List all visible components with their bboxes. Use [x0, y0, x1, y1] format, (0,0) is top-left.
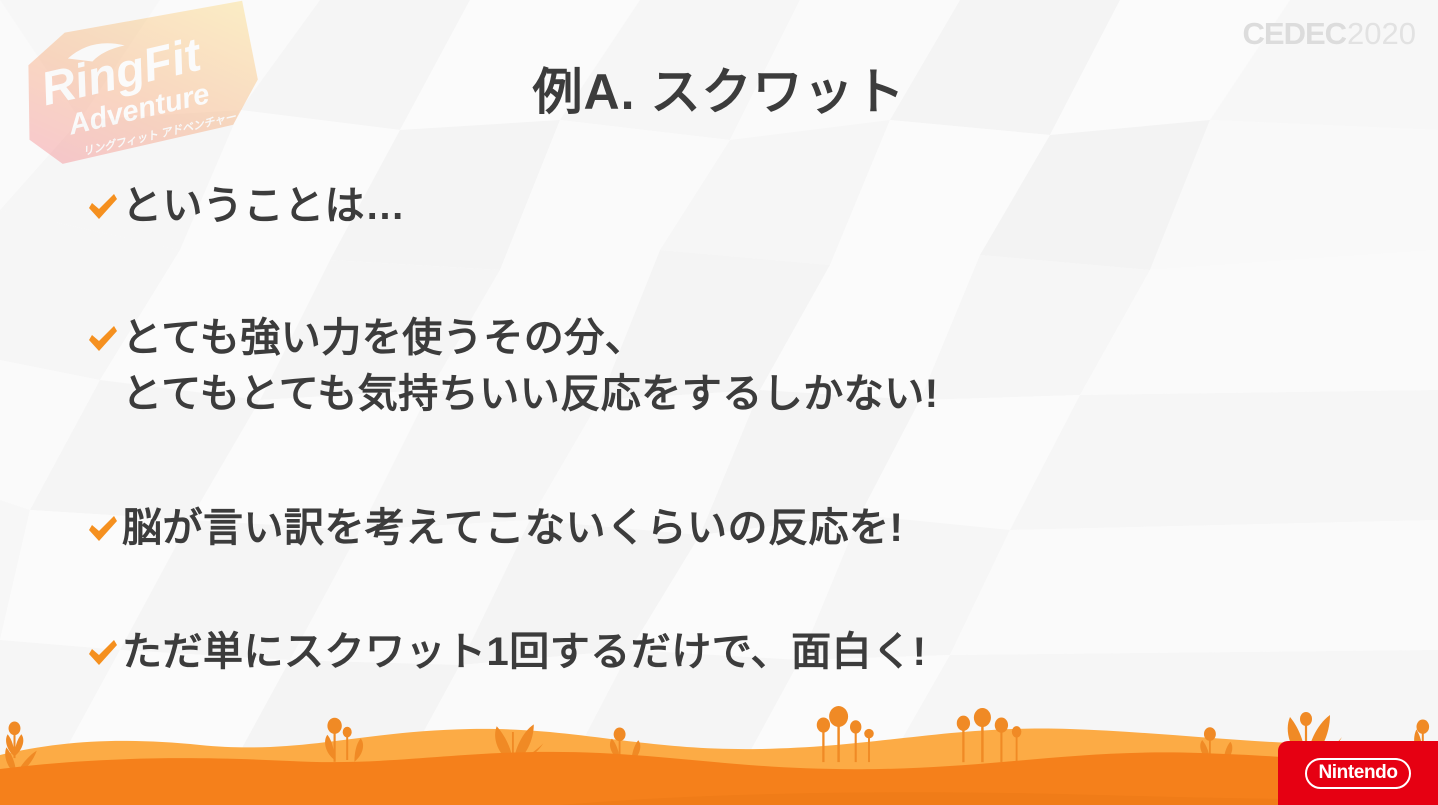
bullet-item: 脳が言い訳を考えてこないくらいの反応を!	[86, 500, 1326, 556]
bullet-line: とてもとても気持ちいい反応をするしかない!	[122, 366, 939, 422]
footer-hill-decoration	[0, 685, 1438, 805]
slide-title: 例A. スクワット	[0, 52, 1438, 124]
nintendo-wordmark: Nintendo	[1318, 762, 1397, 784]
nintendo-pill-outline: Nintendo	[1305, 758, 1410, 789]
cedec-name: CEDEC	[1243, 16, 1347, 52]
bullet-item: ということは…	[86, 178, 1326, 234]
bullet-line: ただ単にスクワット1回するだけで、面白く!	[122, 624, 926, 680]
bullet-text: ということは…	[122, 178, 406, 234]
bullet-text: とても強い力を使うその分、 とてもとても気持ちいい反応をするしかない!	[122, 310, 939, 422]
check-icon	[86, 316, 120, 362]
check-icon	[86, 184, 120, 230]
check-icon	[86, 630, 120, 676]
bullet-line: ということは…	[122, 178, 406, 234]
bullet-text: 脳が言い訳を考えてこないくらいの反応を!	[122, 500, 903, 556]
bullet-item: とても強い力を使うその分、 とてもとても気持ちいい反応をするしかない!	[86, 310, 1326, 422]
cedec-year: 2020	[1347, 16, 1416, 52]
bullet-line: 脳が言い訳を考えてこないくらいの反応を!	[122, 500, 903, 556]
presentation-slide: RingFit Adventure リングフィット アドベンチャー CEDEC …	[0, 0, 1438, 805]
check-icon	[86, 506, 120, 552]
bullet-text: ただ単にスクワット1回するだけで、面白く!	[122, 624, 926, 680]
cedec-conference-logo: CEDEC 2020	[1243, 16, 1416, 52]
bullet-list: ということは… とても強い力を使うその分、 とてもとても気持ちいい反応をするしか…	[86, 178, 1326, 680]
bullet-item: ただ単にスクワット1回するだけで、面白く!	[86, 624, 1326, 680]
nintendo-logo: Nintendo	[1278, 741, 1438, 805]
bullet-line: とても強い力を使うその分、	[122, 310, 939, 366]
